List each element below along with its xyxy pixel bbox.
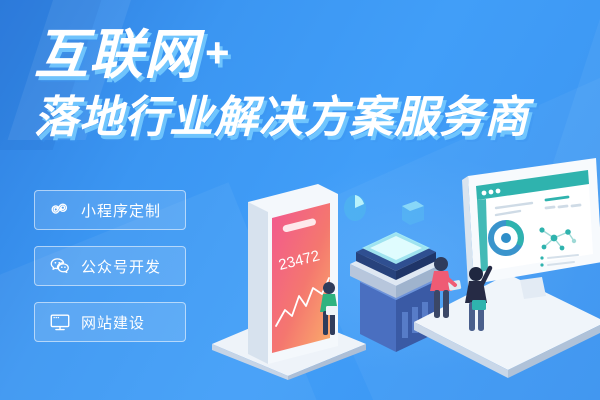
person-dark-shirt xyxy=(458,262,496,334)
headline-primary: 互联网+ xyxy=(34,28,574,82)
headline-plus-sign: + xyxy=(199,29,231,76)
feature-button-miniprogram[interactable]: 小程序定制 xyxy=(34,190,186,230)
hero-illustration: 23472 xyxy=(200,150,600,400)
feature-button-label: 网站建设 xyxy=(81,312,145,333)
feature-button-website[interactable]: 网站建设 xyxy=(34,302,186,342)
promo-banner: 互联网+ 落地行业解决方案服务商 小程序定制 公众号开发 xyxy=(0,0,600,400)
headline-secondary: 落地行业解决方案服务商 xyxy=(34,96,574,140)
feature-button-label: 公众号开发 xyxy=(81,256,161,277)
feature-button-official-account[interactable]: 公众号开发 xyxy=(34,246,186,286)
wechat-icon xyxy=(49,255,71,277)
feature-button-label: 小程序定制 xyxy=(81,200,161,221)
monitor-icon xyxy=(49,311,71,333)
headline-primary-text: 互联网 xyxy=(34,25,199,85)
person-pink-shirt xyxy=(422,255,462,321)
feature-button-list: 小程序定制 公众号开发 网站建设 xyxy=(34,190,186,358)
headline-group: 互联网+ 落地行业解决方案服务商 xyxy=(34,28,574,140)
miniprogram-icon xyxy=(49,199,71,221)
